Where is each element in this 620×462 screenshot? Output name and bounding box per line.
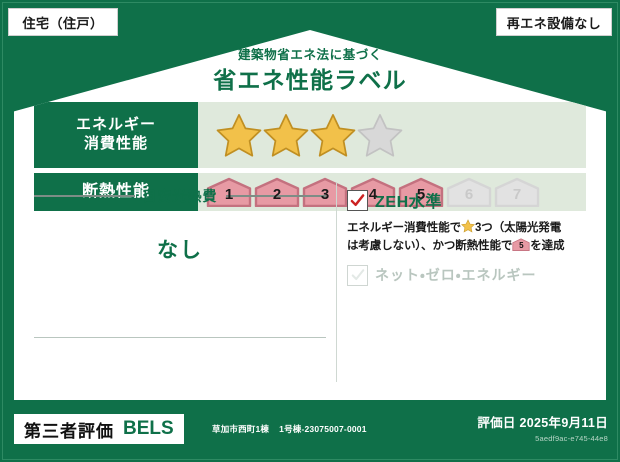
net-zero-energy-label: ネット・ゼロ・エネルギー [375, 265, 537, 285]
energy-label-line1: エネルギー [76, 116, 156, 135]
insulation-grade-number: 7 [513, 187, 521, 207]
footer-date: 評価日 2025年9月11日 [477, 412, 608, 431]
tag-renewable-equipment: 再エネ設備なし [496, 8, 612, 36]
bels-en-label: BELS [123, 418, 174, 440]
page-title: 建築物省エネ法に基づく 省エネ性能ラベル [14, 48, 606, 93]
label-body-panel: 建築物省エネ法に基づく 省エネ性能ラベル エネルギー 消費性能 [14, 30, 606, 400]
insulation-grade-number: 5 [417, 187, 425, 207]
utility-cost-panel: 目安光熱費 なし [34, 182, 326, 382]
zeh-desc-part1: エネルギー消費性能で [347, 222, 461, 234]
panel-divider [336, 182, 337, 382]
star-empty-icon [357, 112, 403, 158]
footer: 第三者評価 BELS 草加市西町1棟1号棟-23075007-0001 評価日 … [0, 404, 620, 462]
energy-performance-value [198, 102, 586, 168]
utility-cost-value: なし [34, 234, 326, 264]
zeh-checkbox[interactable] [347, 190, 368, 211]
bels-certification-badge: 第三者評価 BELS [14, 414, 184, 444]
star-filled-icon [216, 112, 262, 158]
insulation-grade-number: 2 [273, 187, 281, 207]
rule-left [34, 195, 135, 197]
net-zero-energy-row: ネット・ゼロ・エネルギー [347, 265, 586, 286]
title-subtitle: 建築物省エネ法に基づく [14, 48, 606, 63]
energy-label-line2: 消費性能 [84, 135, 148, 154]
star-filled-icon [310, 112, 356, 158]
net-zero-energy-checkbox[interactable] [347, 265, 368, 286]
footer-date-value: 2025年9月11日 [520, 416, 608, 430]
footer-address-text: 草加市西町1棟 [212, 424, 269, 434]
check-icon-disabled [351, 268, 365, 282]
utility-cost-title-text: 目安光熱費 [143, 186, 218, 206]
energy-performance-label-key: エネルギー 消費性能 [34, 102, 198, 168]
inline-star-icon [461, 219, 475, 233]
footer-building-no: 1号棟-23075007-0001 [279, 424, 367, 434]
insulation-grade-number: 6 [465, 187, 473, 207]
zeh-desc-part2: は考慮しない）、かつ断熱性能で [347, 240, 512, 252]
title-main: 省エネ性能ラベル [14, 67, 606, 93]
star-rating [216, 112, 403, 158]
lower-panels: 目安光熱費 なし ZEH水準 [34, 182, 586, 382]
footer-hash: 5aedf9ac-e745-44e8 [477, 434, 608, 443]
footer-evaluation-info: 評価日 2025年9月11日 5aedf9ac-e745-44e8 [477, 412, 608, 443]
zeh-desc-stars: 3つ（太陽光発電 [475, 222, 561, 234]
zeh-desc-part3: を達成 [530, 240, 564, 252]
row-energy-performance: エネルギー 消費性能 [34, 102, 586, 168]
bels-jp-label: 第三者評価 [24, 417, 114, 442]
insulation-grade-number: 3 [321, 187, 329, 207]
footer-date-label: 評価日 [477, 416, 515, 430]
star-filled-icon [263, 112, 309, 158]
insulation-grade-number: 4 [369, 187, 377, 207]
utility-cost-title: 目安光熱費 [34, 186, 326, 206]
inline-grade-number: 5 [512, 242, 530, 250]
check-icon [350, 193, 365, 208]
zeh-panel: ZEH水準 エネルギー消費性能で 3つ（太陽光発電 は考慮しない）、かつ断熱性能… [347, 182, 586, 382]
utility-cost-bottom-rule [34, 337, 326, 338]
tag-building-type: 住宅（住戸） [8, 8, 118, 36]
energy-performance-label: 住宅（住戸） 再エネ設備なし 建築物省エネ法に基づく 省エネ性能ラベル エネルギ… [0, 0, 620, 462]
zeh-title: ZEH水準 [375, 188, 442, 212]
insulation-grade-number: 1 [225, 187, 233, 207]
zeh-description: エネルギー消費性能で 3つ（太陽光発電 は考慮しない）、かつ断熱性能で 5 を達… [347, 219, 586, 256]
inline-grade-badge: 5 [512, 238, 530, 251]
footer-address: 草加市西町1棟1号棟-23075007-0001 [212, 423, 367, 435]
